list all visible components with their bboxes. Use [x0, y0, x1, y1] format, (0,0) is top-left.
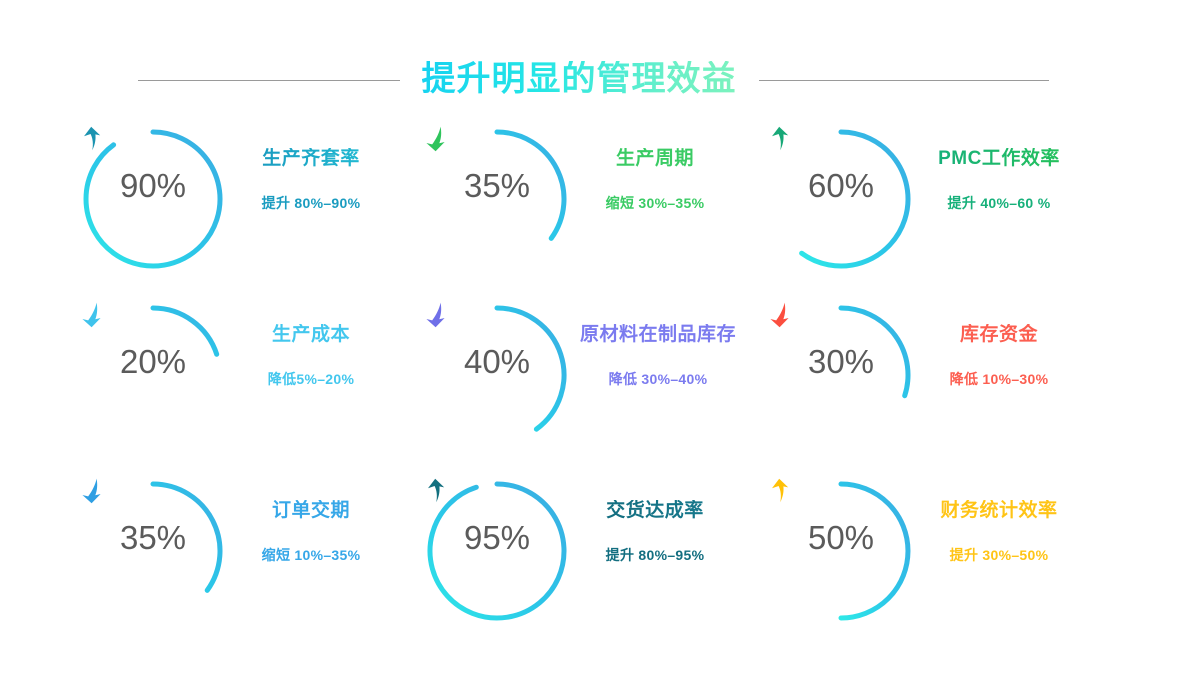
metric-text-block: 生产齐套率提升 80%–90% [236, 148, 386, 213]
metric-label: 原材料在制品库存 [580, 324, 736, 347]
gauge-percent-value: 35% [464, 169, 530, 202]
metric-card-production-kitting-rate: 90%生产齐套率提升 80%–90% [80, 122, 424, 298]
progress-ring-production-cost: 20% [80, 302, 226, 448]
metric-text-block: 财务统计效率提升 30%–50% [924, 500, 1074, 565]
metric-label: 生产周期 [616, 148, 694, 171]
progress-ring-raw-material-wip-inventory: 40% [424, 302, 570, 448]
metric-text-block: 库存资金降低 10%–30% [924, 324, 1074, 389]
metric-subtext: 缩短 10%–35% [262, 545, 361, 565]
metric-subtext: 提升 40%–60 % [948, 193, 1051, 213]
metric-subtext: 提升 80%–90% [262, 193, 361, 213]
progress-ring-delivery-achievement-rate: 95% [424, 478, 570, 624]
page-header: 提升明显的管理效益 [0, 52, 1186, 108]
metric-subtext: 缩短 30%–35% [606, 193, 705, 213]
metric-subtext: 提升 30%–50% [950, 545, 1049, 565]
progress-ring-inventory-capital: 30% [768, 302, 914, 448]
progress-ring-financial-statistics-efficiency: 50% [768, 478, 914, 624]
metric-card-order-lead-time: 35%订单交期缩短 10%–35% [80, 474, 424, 640]
gauge-percent-value: 50% [808, 521, 874, 554]
metrics-grid: 90%生产齐套率提升 80%–90%35%生产周期缩短 30%–35%60%PM… [80, 122, 1106, 640]
gauge-center: 35% [80, 478, 226, 624]
metric-label: 财务统计效率 [940, 500, 1057, 523]
metric-card-production-cycle: 35%生产周期缩短 30%–35% [424, 122, 768, 298]
metric-text-block: PMC工作效率提升 40%–60 % [924, 148, 1074, 213]
gauge-center: 95% [424, 478, 570, 624]
metric-card-raw-material-wip-inventory: 40%原材料在制品库存降低 30%–40% [424, 298, 768, 474]
gauge-center: 30% [768, 302, 914, 448]
metric-subtext: 降低 30%–40% [609, 369, 708, 389]
metric-text-block: 交货达成率提升 80%–95% [580, 500, 730, 565]
progress-ring-production-kitting-rate: 90% [80, 126, 226, 272]
page-title: 提升明显的管理效益 [422, 61, 737, 98]
metric-label: 库存资金 [960, 324, 1038, 347]
header-rule-left [138, 80, 400, 81]
gauge-percent-value: 90% [120, 169, 186, 202]
header-rule-right [759, 80, 1049, 81]
metric-card-delivery-achievement-rate: 95%交货达成率提升 80%–95% [424, 474, 768, 640]
metric-card-inventory-capital: 30%库存资金降低 10%–30% [768, 298, 1106, 474]
metric-card-financial-statistics-efficiency: 50%财务统计效率提升 30%–50% [768, 474, 1106, 640]
progress-ring-order-lead-time: 35% [80, 478, 226, 624]
gauge-center: 60% [768, 126, 914, 272]
gauge-percent-value: 20% [120, 345, 186, 378]
metric-label: 生产成本 [272, 324, 350, 347]
gauge-percent-value: 95% [464, 521, 530, 554]
metric-text-block: 生产成本降低5%–20% [236, 324, 386, 389]
metric-label: 订单交期 [272, 500, 350, 523]
gauge-center: 50% [768, 478, 914, 624]
gauge-center: 20% [80, 302, 226, 448]
gauge-percent-value: 60% [808, 169, 874, 202]
metric-text-block: 原材料在制品库存降低 30%–40% [580, 324, 736, 389]
gauge-center: 40% [424, 302, 570, 448]
gauge-percent-value: 35% [120, 521, 186, 554]
metric-card-production-cost: 20%生产成本降低5%–20% [80, 298, 424, 474]
gauge-center: 35% [424, 126, 570, 272]
metric-subtext: 降低5%–20% [268, 369, 354, 389]
metric-label: 交货达成率 [606, 500, 704, 523]
gauge-percent-value: 40% [464, 345, 530, 378]
metric-label: 生产齐套率 [262, 148, 360, 171]
metric-text-block: 订单交期缩短 10%–35% [236, 500, 386, 565]
progress-ring-pmc-work-efficiency: 60% [768, 126, 914, 272]
gauge-center: 90% [80, 126, 226, 272]
metric-subtext: 降低 10%–30% [950, 369, 1049, 389]
metric-card-pmc-work-efficiency: 60%PMC工作效率提升 40%–60 % [768, 122, 1106, 298]
progress-ring-production-cycle: 35% [424, 126, 570, 272]
metric-subtext: 提升 80%–95% [606, 545, 705, 565]
metric-label: PMC工作效率 [938, 148, 1060, 171]
gauge-percent-value: 30% [808, 345, 874, 378]
metric-text-block: 生产周期缩短 30%–35% [580, 148, 730, 213]
